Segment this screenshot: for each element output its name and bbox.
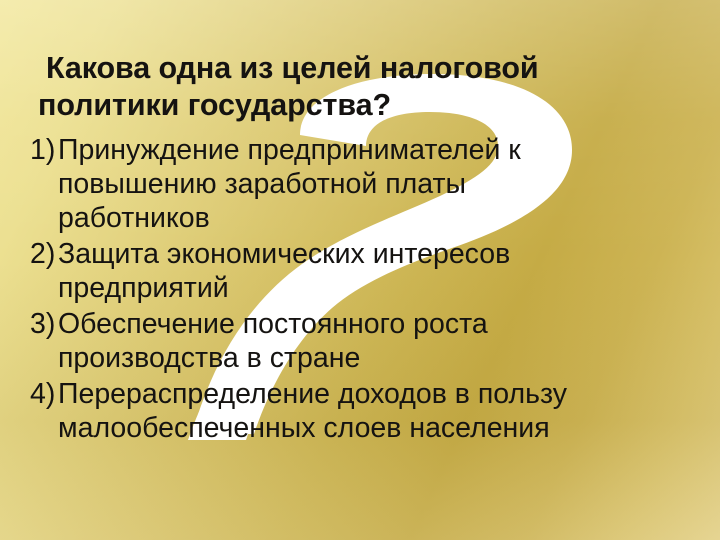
option-label: Защита экономических интересов предприят… — [58, 237, 720, 305]
option-number: 4) — [0, 377, 58, 411]
question-line-2: политики государства? — [26, 87, 666, 124]
list-item[interactable]: 1) Принуждение предпринимателей к повыше… — [0, 133, 720, 235]
option-label: Обеспечение постоянного роста производст… — [58, 307, 720, 375]
answer-options-list: 1) Принуждение предпринимателей к повыше… — [0, 133, 720, 447]
page-title: Какова одна из целей налоговой политики … — [26, 50, 666, 124]
option-label: Принуждение предпринимателей к повышению… — [58, 133, 720, 235]
option-label: Перераспределение доходов в пользу малоо… — [58, 377, 720, 445]
question-line-1: Какова одна из целей налоговой — [26, 50, 666, 87]
option-number: 3) — [0, 307, 58, 341]
presentation-slide: Какова одна из целей налоговой политики … — [0, 0, 720, 540]
option-number: 1) — [0, 133, 58, 167]
list-item[interactable]: 2) Защита экономических интересов предпр… — [0, 237, 720, 305]
list-item[interactable]: 4) Перераспределение доходов в пользу ма… — [0, 377, 720, 445]
list-item[interactable]: 3) Обеспечение постоянного роста произво… — [0, 307, 720, 375]
option-number: 2) — [0, 237, 58, 271]
